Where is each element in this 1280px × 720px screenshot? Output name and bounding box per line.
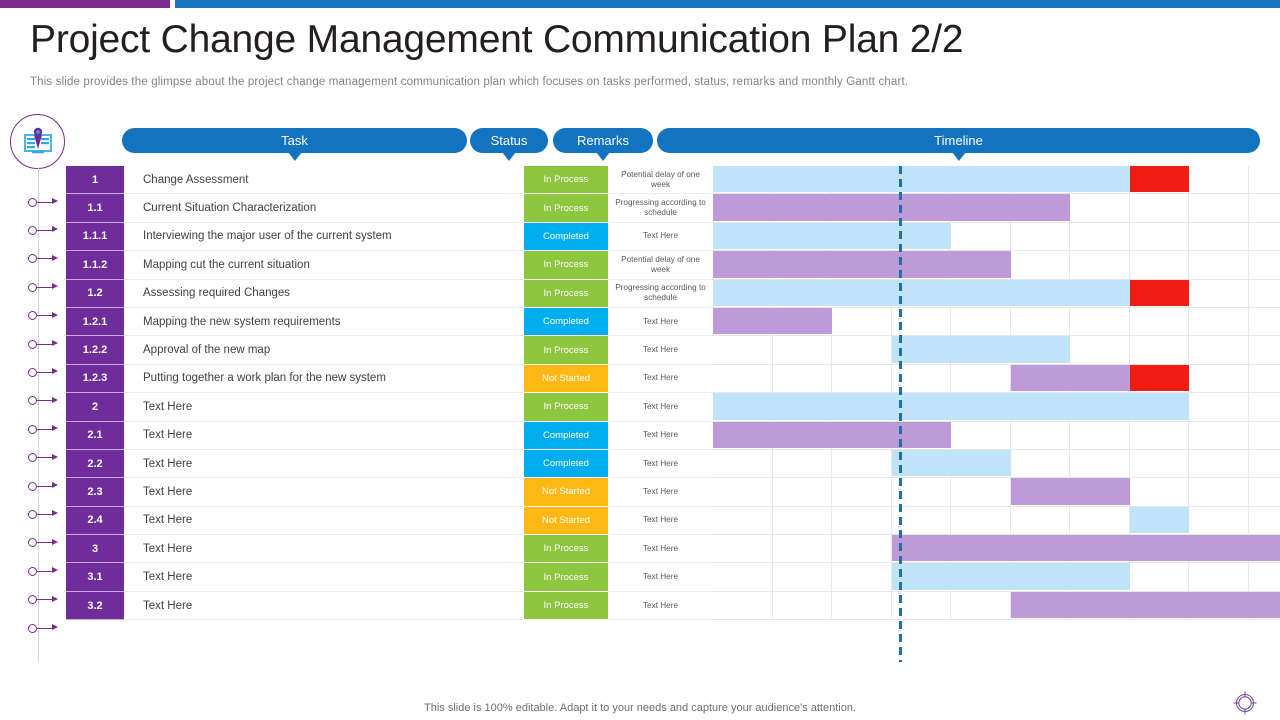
project-plan-glyph <box>21 125 55 159</box>
gantt-grid-column <box>773 507 833 534</box>
status-badge: In Process <box>524 336 608 364</box>
gantt-grid-column <box>1249 393 1280 420</box>
status-badge: Completed <box>524 450 608 478</box>
gantt-bar[interactable] <box>1011 365 1130 391</box>
gantt-grid-column <box>1189 393 1249 420</box>
row-number-cell: 1.2.2 <box>66 336 124 364</box>
gantt-bar[interactable] <box>713 251 1011 277</box>
gantt-grid-column <box>1011 450 1071 477</box>
row-connector-arrow-icon <box>28 308 60 322</box>
row-connector-arrow-icon <box>28 479 60 493</box>
gantt-grid-column <box>1249 478 1280 505</box>
gantt-grid-column <box>832 336 892 363</box>
gantt-grid-column <box>773 592 833 619</box>
column-header-remarks[interactable]: Remarks <box>553 128 653 153</box>
table-row[interactable]: 1.1Current Situation CharacterizationIn … <box>66 194 1280 222</box>
gantt-grid-column <box>713 563 773 590</box>
gantt-bar[interactable] <box>713 422 951 448</box>
gantt-grid-column <box>713 507 773 534</box>
gantt-bar[interactable] <box>892 535 1280 561</box>
row-gantt-cell <box>713 393 1280 421</box>
row-number-cell: 2.2 <box>66 450 124 478</box>
top-accent-purple-segment <box>0 0 170 8</box>
row-task-cell: Current Situation Characterization <box>124 194 524 222</box>
gantt-grid-column <box>1011 223 1071 250</box>
row-gantt-cell <box>713 336 1280 364</box>
gantt-grid-column <box>1011 507 1071 534</box>
row-gantt-cell <box>713 166 1280 194</box>
gantt-grid-column <box>773 336 833 363</box>
row-remarks-cell: Text Here <box>608 422 713 450</box>
gantt-grid-column <box>1249 450 1280 477</box>
row-remarks-cell: Potential delay of one week <box>608 166 713 194</box>
gantt-grid-column <box>1249 223 1280 250</box>
gantt-grid-column <box>951 507 1011 534</box>
row-connector-arrow-icon <box>28 450 60 464</box>
gantt-grid-column <box>1249 194 1280 221</box>
row-gantt-cell <box>713 308 1280 336</box>
row-remarks-cell: Progressing according to schedule <box>608 194 713 222</box>
gantt-grid-column <box>1130 422 1190 449</box>
gantt-bar[interactable] <box>892 336 1071 362</box>
row-gantt-cell <box>713 251 1280 279</box>
row-number-cell: 1.1.1 <box>66 223 124 251</box>
row-task-cell: Mapping the new system requirements <box>124 308 524 336</box>
gantt-grid-column <box>1130 194 1190 221</box>
row-gantt-cell <box>713 194 1280 222</box>
gantt-bar[interactable] <box>713 223 951 249</box>
row-connector-arrow-icon <box>28 251 60 265</box>
row-gantt-cell <box>713 592 1280 620</box>
pill-notch-icon <box>596 152 610 161</box>
gantt-grid-column <box>951 422 1011 449</box>
row-connector-arrow-icon <box>28 564 60 578</box>
gantt-grid-column <box>951 365 1011 392</box>
status-badge: In Process <box>524 563 608 591</box>
gantt-grid-column <box>1130 308 1190 335</box>
gantt-bar[interactable] <box>1011 478 1130 504</box>
footer-note: This slide is 100% editable. Adapt it to… <box>0 702 1280 714</box>
row-connector-arrow-icon <box>28 393 60 407</box>
table-row[interactable]: 1Change AssessmentIn ProcessPotential de… <box>66 166 1280 194</box>
row-remarks-cell: Text Here <box>608 507 713 535</box>
status-badge: In Process <box>524 535 608 563</box>
row-task-cell: Text Here <box>124 592 524 620</box>
gantt-grid-column <box>1249 365 1280 392</box>
gantt-bar[interactable] <box>713 393 1189 419</box>
gantt-grid-column <box>1249 563 1280 590</box>
status-badge: Completed <box>524 422 608 450</box>
gantt-grid-column <box>1011 251 1071 278</box>
row-number-cell: 2 <box>66 393 124 421</box>
gantt-grid-column <box>1130 563 1190 590</box>
row-number-cell: 1.2 <box>66 280 124 308</box>
gantt-bar[interactable] <box>1130 507 1190 533</box>
gantt-grid-column <box>1070 223 1130 250</box>
row-remarks-cell: Progressing according to schedule <box>608 280 713 308</box>
row-connector-arrow-icon <box>28 195 60 209</box>
gantt-grid-column <box>1011 422 1071 449</box>
gantt-grid-column <box>1189 336 1249 363</box>
row-remarks-cell: Text Here <box>608 478 713 506</box>
gantt-bar[interactable] <box>1130 280 1190 306</box>
row-gantt-cell <box>713 223 1280 251</box>
row-number-cell: 3.2 <box>66 592 124 620</box>
row-connector-arrow-icon <box>28 280 60 294</box>
gantt-grid-column <box>1189 166 1249 193</box>
row-number-cell: 2.1 <box>66 422 124 450</box>
row-remarks-cell: Text Here <box>608 223 713 251</box>
status-badge: In Process <box>524 166 608 194</box>
row-remarks-cell: Text Here <box>608 450 713 478</box>
gantt-bar[interactable] <box>892 563 1130 589</box>
gantt-grid-column <box>1249 507 1280 534</box>
row-number-cell: 2.3 <box>66 478 124 506</box>
gantt-grid-column <box>773 478 833 505</box>
gantt-grid-column <box>951 592 1011 619</box>
top-accent-bar <box>0 0 1280 8</box>
column-header-status[interactable]: Status <box>470 128 548 153</box>
status-badge: In Process <box>524 592 608 620</box>
row-task-cell: Change Assessment <box>124 166 524 194</box>
gantt-bar[interactable] <box>1130 365 1190 391</box>
table-row[interactable]: 1.2.1Mapping the new system requirements… <box>66 308 1280 336</box>
pill-notch-icon <box>502 152 516 161</box>
gantt-grid-column <box>773 563 833 590</box>
row-gantt-cell <box>713 507 1280 535</box>
gantt-bar[interactable] <box>1130 166 1190 192</box>
gantt-grid-column <box>1070 422 1130 449</box>
row-connector-arrow-icon <box>28 223 60 237</box>
gantt-grid-column <box>1070 251 1130 278</box>
gantt-grid-column <box>1130 336 1190 363</box>
column-header-remarks-label: Remarks <box>577 133 629 148</box>
status-badge: In Process <box>524 194 608 222</box>
gantt-grid-column <box>1189 194 1249 221</box>
row-gantt-cell <box>713 535 1280 563</box>
gantt-grid-column <box>773 535 833 562</box>
table-row[interactable]: 1.2.3Putting together a work plan for th… <box>66 365 1280 393</box>
row-task-cell: Putting together a work plan for the new… <box>124 365 524 393</box>
row-gantt-cell <box>713 563 1280 591</box>
gantt-bar[interactable] <box>1011 592 1280 618</box>
status-badge: Not Started <box>524 507 608 535</box>
gantt-grid-column <box>1189 223 1249 250</box>
timeline-spine <box>38 167 39 662</box>
gantt-grid-column <box>832 365 892 392</box>
row-task-cell: Text Here <box>124 507 524 535</box>
gantt-grid-column <box>1130 450 1190 477</box>
column-header-task-label: Task <box>281 133 308 148</box>
gantt-grid-column <box>713 365 773 392</box>
row-remarks-cell: Text Here <box>608 365 713 393</box>
row-remarks-cell: Text Here <box>608 393 713 421</box>
row-gantt-cell <box>713 450 1280 478</box>
table-row[interactable]: 3Text HereIn ProcessText Here <box>66 535 1280 563</box>
gantt-bar[interactable] <box>713 166 1130 192</box>
row-task-cell: Text Here <box>124 535 524 563</box>
row-number-cell: 1.1.2 <box>66 251 124 279</box>
gantt-bar[interactable] <box>713 194 1070 220</box>
row-task-cell: Approval of the new map <box>124 336 524 364</box>
gantt-grid-column <box>1070 507 1130 534</box>
row-task-cell: Interviewing the major user of the curre… <box>124 223 524 251</box>
column-header-timeline-label: Timeline <box>934 133 983 148</box>
column-header-task[interactable]: Task <box>122 128 467 153</box>
status-badge: Not Started <box>524 478 608 506</box>
row-number-cell: 1.2.3 <box>66 365 124 393</box>
row-connector-arrow-icon <box>28 535 60 549</box>
row-task-cell: Text Here <box>124 393 524 421</box>
status-badge: In Process <box>524 251 608 279</box>
row-task-cell: Assessing required Changes <box>124 280 524 308</box>
gantt-grid-column <box>1189 478 1249 505</box>
gantt-grid-column <box>1011 308 1071 335</box>
row-number-cell: 1.1 <box>66 194 124 222</box>
row-connector-arrow-icon <box>28 592 60 606</box>
gantt-grid-column <box>1189 563 1249 590</box>
column-header-timeline[interactable]: Timeline <box>657 128 1260 153</box>
row-gantt-cell <box>713 365 1280 393</box>
table-row[interactable]: 2.1Text HereCompletedText Here <box>66 422 1280 450</box>
gantt-grid-column <box>1070 308 1130 335</box>
gantt-grid-column <box>1189 422 1249 449</box>
gantt-grid-column <box>1189 280 1249 307</box>
table-row[interactable]: 2.4Text HereNot StartedText Here <box>66 507 1280 535</box>
row-remarks-cell: Potential delay of one week <box>608 251 713 279</box>
row-number-cell: 2.4 <box>66 507 124 535</box>
table-row[interactable]: 3.1Text HereIn ProcessText Here <box>66 563 1280 591</box>
gantt-grid-column <box>1189 365 1249 392</box>
gantt-grid-column <box>1249 336 1280 363</box>
gantt-grid-column <box>1130 478 1190 505</box>
row-gantt-cell <box>713 280 1280 308</box>
row-number-cell: 3 <box>66 535 124 563</box>
gantt-grid-column <box>1189 507 1249 534</box>
gantt-grid-column <box>832 507 892 534</box>
table-row[interactable]: 2Text HereIn ProcessText Here <box>66 393 1280 421</box>
table-row[interactable]: 2.2Text HereCompletedText Here <box>66 450 1280 478</box>
gantt-grid-column <box>713 450 773 477</box>
target-crosshair-icon <box>1230 688 1260 718</box>
status-badge: Completed <box>524 223 608 251</box>
page-subtitle: This slide provides the glimpse about th… <box>30 76 908 88</box>
row-connector-arrow-icon <box>28 365 60 379</box>
row-remarks-cell: Text Here <box>608 308 713 336</box>
row-remarks-cell: Text Here <box>608 592 713 620</box>
gantt-grid-column <box>1249 280 1280 307</box>
gantt-grid-column <box>713 336 773 363</box>
row-number-cell: 1.2.1 <box>66 308 124 336</box>
gantt-grid-column <box>1189 251 1249 278</box>
gantt-grid-column <box>951 478 1011 505</box>
gantt-grid-column <box>713 592 773 619</box>
table-row[interactable]: 1.2Assessing required ChangesIn ProcessP… <box>66 280 1280 308</box>
row-task-cell: Text Here <box>124 422 524 450</box>
page-title: Project Change Management Communication … <box>30 18 963 62</box>
gantt-grid-column <box>832 535 892 562</box>
table-row[interactable]: 3.2Text HereIn ProcessText Here <box>66 592 1280 620</box>
status-badge: Not Started <box>524 365 608 393</box>
gantt-grid-column <box>1249 422 1280 449</box>
gantt-grid-column <box>1070 336 1130 363</box>
row-task-cell: Text Here <box>124 478 524 506</box>
gantt-grid-column <box>832 563 892 590</box>
gantt-grid-column <box>1249 308 1280 335</box>
gantt-grid-column <box>773 450 833 477</box>
today-marker-line <box>899 166 902 662</box>
pill-notch-icon <box>288 152 302 161</box>
gantt-grid-column <box>713 535 773 562</box>
gantt-grid-column <box>1130 251 1190 278</box>
gantt-grid-column <box>1070 194 1130 221</box>
gantt-grid-column <box>713 478 773 505</box>
row-number-cell: 3.1 <box>66 563 124 591</box>
gantt-grid-column <box>951 308 1011 335</box>
table-row[interactable]: 1.1.1Interviewing the major user of the … <box>66 223 1280 251</box>
gantt-table: 1Change AssessmentIn ProcessPotential de… <box>66 166 1280 620</box>
status-badge: Completed <box>524 308 608 336</box>
row-remarks-cell: Text Here <box>608 563 713 591</box>
gantt-grid-column <box>951 223 1011 250</box>
table-row[interactable]: 1.2.2Approval of the new mapIn ProcessTe… <box>66 336 1280 364</box>
gantt-grid-column <box>832 450 892 477</box>
row-gantt-cell <box>713 478 1280 506</box>
gantt-grid-column <box>832 308 892 335</box>
gantt-grid-column <box>832 478 892 505</box>
column-header-status-label: Status <box>491 133 528 148</box>
gantt-grid-column <box>1130 223 1190 250</box>
gantt-grid-column <box>832 592 892 619</box>
row-task-cell: Mapping cut the current situation <box>124 251 524 279</box>
gantt-bar[interactable] <box>713 280 1130 306</box>
gantt-grid-column <box>1189 308 1249 335</box>
row-task-cell: Text Here <box>124 450 524 478</box>
status-badge: In Process <box>524 280 608 308</box>
row-gantt-cell <box>713 422 1280 450</box>
gantt-grid-column <box>1070 450 1130 477</box>
project-plan-icon <box>10 114 65 169</box>
pill-notch-icon <box>952 152 966 161</box>
row-connector-arrow-icon <box>28 422 60 436</box>
row-connector-arrow-icon <box>28 621 60 635</box>
row-remarks-cell: Text Here <box>608 535 713 563</box>
row-number-cell: 1 <box>66 166 124 194</box>
row-task-cell: Text Here <box>124 563 524 591</box>
gantt-grid-column <box>1189 450 1249 477</box>
gantt-bar[interactable] <box>713 308 832 334</box>
gantt-bar[interactable] <box>892 450 1011 476</box>
status-badge: In Process <box>524 393 608 421</box>
top-accent-blue-segment <box>175 0 1280 8</box>
gantt-grid-column <box>1249 251 1280 278</box>
row-connector-arrow-icon <box>28 337 60 351</box>
table-row[interactable]: 1.1.2Mapping cut the current situationIn… <box>66 251 1280 279</box>
row-connector-arrow-icon <box>28 507 60 521</box>
table-row[interactable]: 2.3Text HereNot StartedText Here <box>66 478 1280 506</box>
gantt-grid-column <box>773 365 833 392</box>
gantt-grid-column <box>1249 166 1280 193</box>
row-remarks-cell: Text Here <box>608 336 713 364</box>
